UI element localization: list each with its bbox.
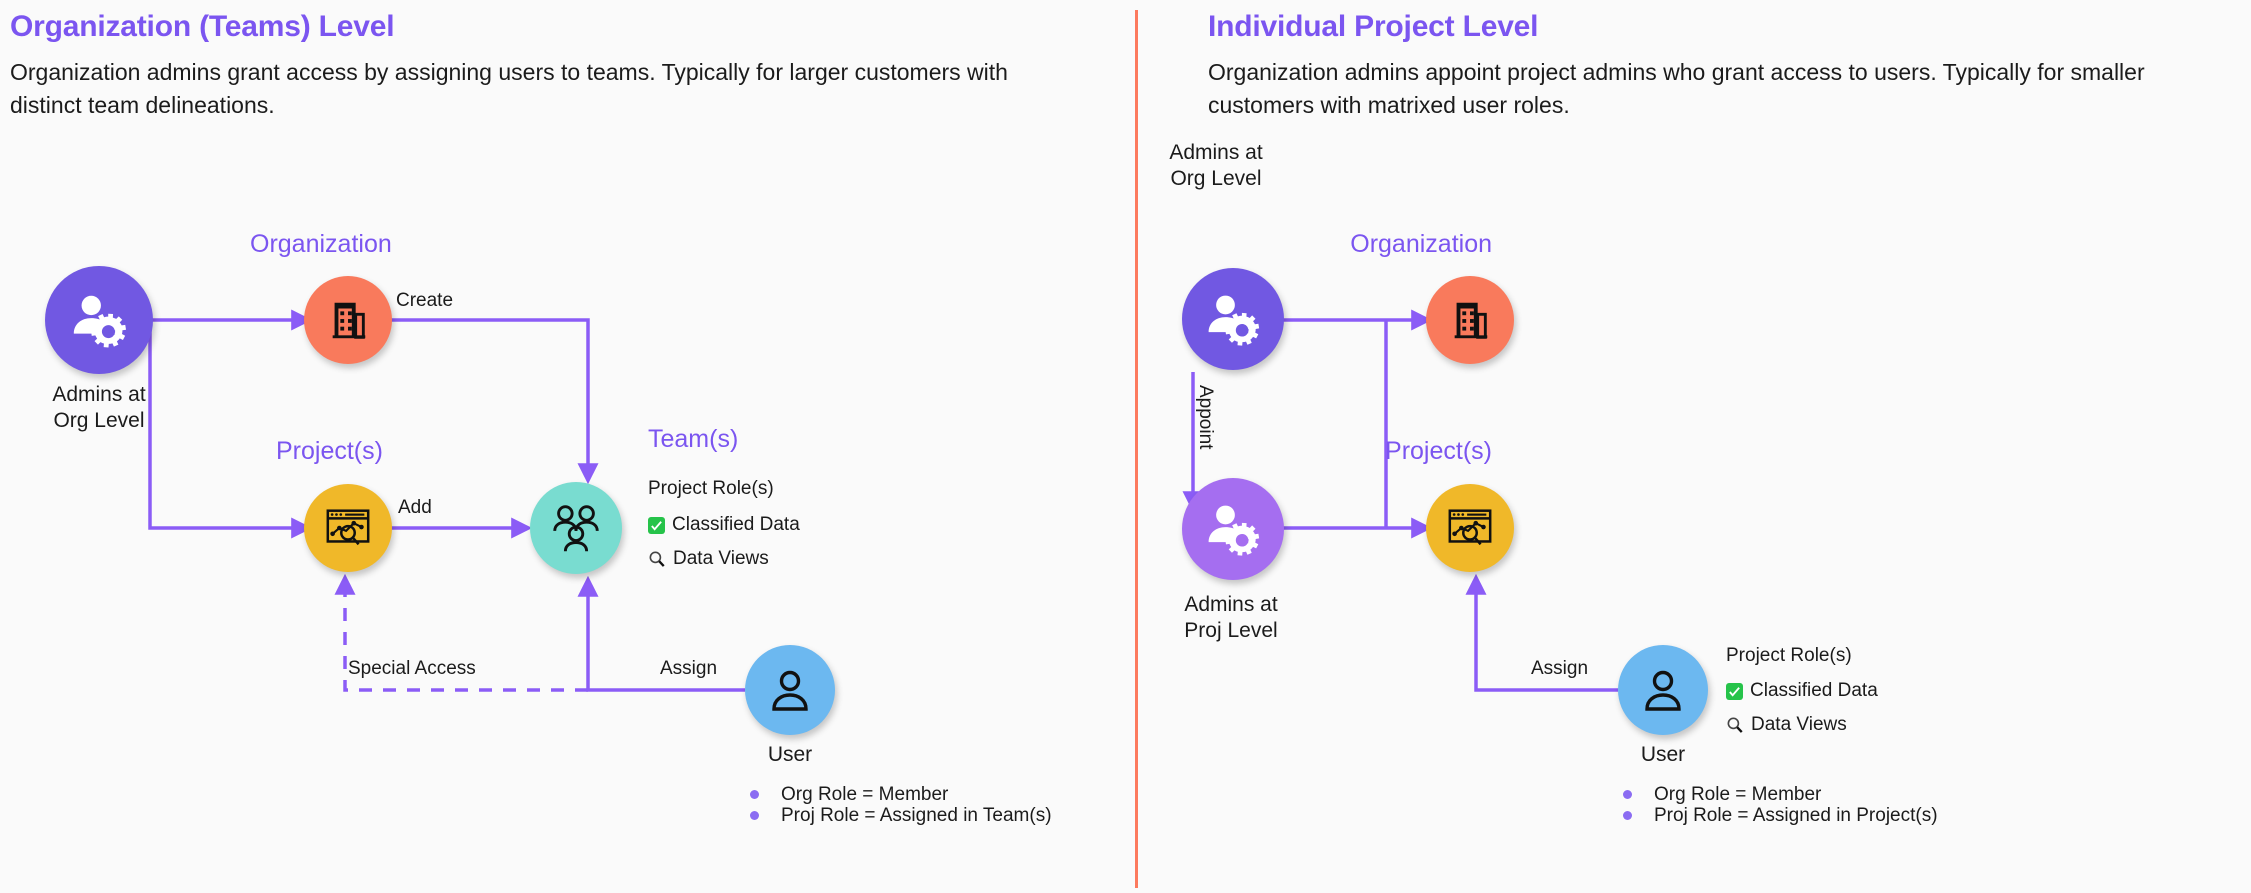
admin-key-icon xyxy=(1203,499,1263,559)
person-icon xyxy=(766,666,814,714)
project-roles-title-right: Project Role(s) xyxy=(1726,645,1852,667)
role-label: Data Views xyxy=(1751,714,1847,736)
right-diagram: Admins at Org Level Appoint xyxy=(1136,0,2251,893)
individual-project-level-panel: Individual Project Level Organization ad… xyxy=(1136,0,2251,893)
node-label-teams: Team(s) xyxy=(648,425,738,454)
edge-label-assign: Assign xyxy=(660,658,717,680)
node-admins-org-level-right[interactable] xyxy=(1182,268,1284,370)
node-organization[interactable] xyxy=(304,276,392,364)
bullet-label: Org Role = Member xyxy=(781,784,948,806)
node-label-user: User xyxy=(730,742,850,768)
user-bullet-list-right: Org Role = Member Proj Role = Assigned i… xyxy=(1623,784,1938,826)
list-item: Proj Role = Assigned in Team(s) xyxy=(750,805,1052,826)
person-icon xyxy=(1639,666,1687,714)
role-item-classified-data-teams: Classified Data xyxy=(648,514,800,536)
node-label-admins-org-level-right: Admins at Org Level xyxy=(1126,140,1306,193)
list-item: Org Role = Member xyxy=(750,784,1052,805)
bullet-dot-icon xyxy=(1623,790,1632,799)
node-teams[interactable] xyxy=(530,482,622,574)
project-dashboard-icon xyxy=(1445,503,1495,553)
bullet-dot-icon xyxy=(1623,811,1632,820)
project-dashboard-icon xyxy=(323,503,373,553)
building-icon xyxy=(1447,297,1493,343)
node-label-organization: Organization xyxy=(250,230,392,259)
node-admins-proj-level[interactable] xyxy=(1182,478,1284,580)
project-roles-title-teams: Project Role(s) xyxy=(648,478,774,500)
list-item: Org Role = Member xyxy=(1623,784,1938,805)
node-user[interactable] xyxy=(745,645,835,735)
role-item-classified-data-right: Classified Data xyxy=(1726,680,1878,702)
node-admins-org-level[interactable] xyxy=(45,266,153,374)
bullet-dot-icon xyxy=(750,811,759,820)
edge-label-assign-right: Assign xyxy=(1531,658,1588,680)
role-label: Classified Data xyxy=(1750,680,1878,702)
left-diagram-edges xyxy=(0,0,1136,893)
magnifier-icon xyxy=(648,550,666,568)
role-item-data-views-right: Data Views xyxy=(1726,714,1847,736)
node-label-admins-org-level: Admins at Org Level xyxy=(9,382,189,435)
node-organization-right[interactable] xyxy=(1426,276,1514,364)
green-check-icon xyxy=(648,517,665,534)
admin-key-icon xyxy=(68,289,130,351)
node-label-projects-right: Project(s) xyxy=(1072,437,1492,466)
edge-label-create: Create xyxy=(396,290,453,312)
role-label: Classified Data xyxy=(672,514,800,536)
user-bullet-list: Org Role = Member Proj Role = Assigned i… xyxy=(750,784,1052,826)
bullet-label: Org Role = Member xyxy=(1654,784,1821,806)
node-label-user-right: User xyxy=(1603,742,1723,768)
green-check-icon xyxy=(1726,683,1743,700)
admin-key-icon xyxy=(1203,289,1263,349)
node-label-admins-proj-level: Admins at Proj Level xyxy=(1126,592,1336,645)
magnifier-icon xyxy=(1726,716,1744,734)
edge-label-add: Add xyxy=(398,497,432,519)
node-label-projects: Project(s) xyxy=(276,437,383,466)
node-projects-right[interactable] xyxy=(1426,484,1514,572)
role-item-data-views-teams: Data Views xyxy=(648,548,769,570)
edge-label-special-access: Special Access xyxy=(348,658,476,680)
bullet-label: Proj Role = Assigned in Team(s) xyxy=(781,805,1052,827)
bullet-label: Proj Role = Assigned in Project(s) xyxy=(1654,805,1938,827)
node-user-right[interactable] xyxy=(1618,645,1708,735)
bullet-dot-icon xyxy=(750,790,759,799)
team-people-icon xyxy=(547,499,605,557)
node-projects[interactable] xyxy=(304,484,392,572)
role-label: Data Views xyxy=(673,548,769,570)
building-icon xyxy=(325,297,371,343)
node-label-organization-right: Organization xyxy=(1072,230,1492,259)
organization-teams-level-panel: Organization (Teams) Level Organization … xyxy=(0,0,1136,893)
list-item: Proj Role = Assigned in Project(s) xyxy=(1623,805,1938,826)
left-diagram: Admins at Org Level Organization xyxy=(0,0,1136,893)
